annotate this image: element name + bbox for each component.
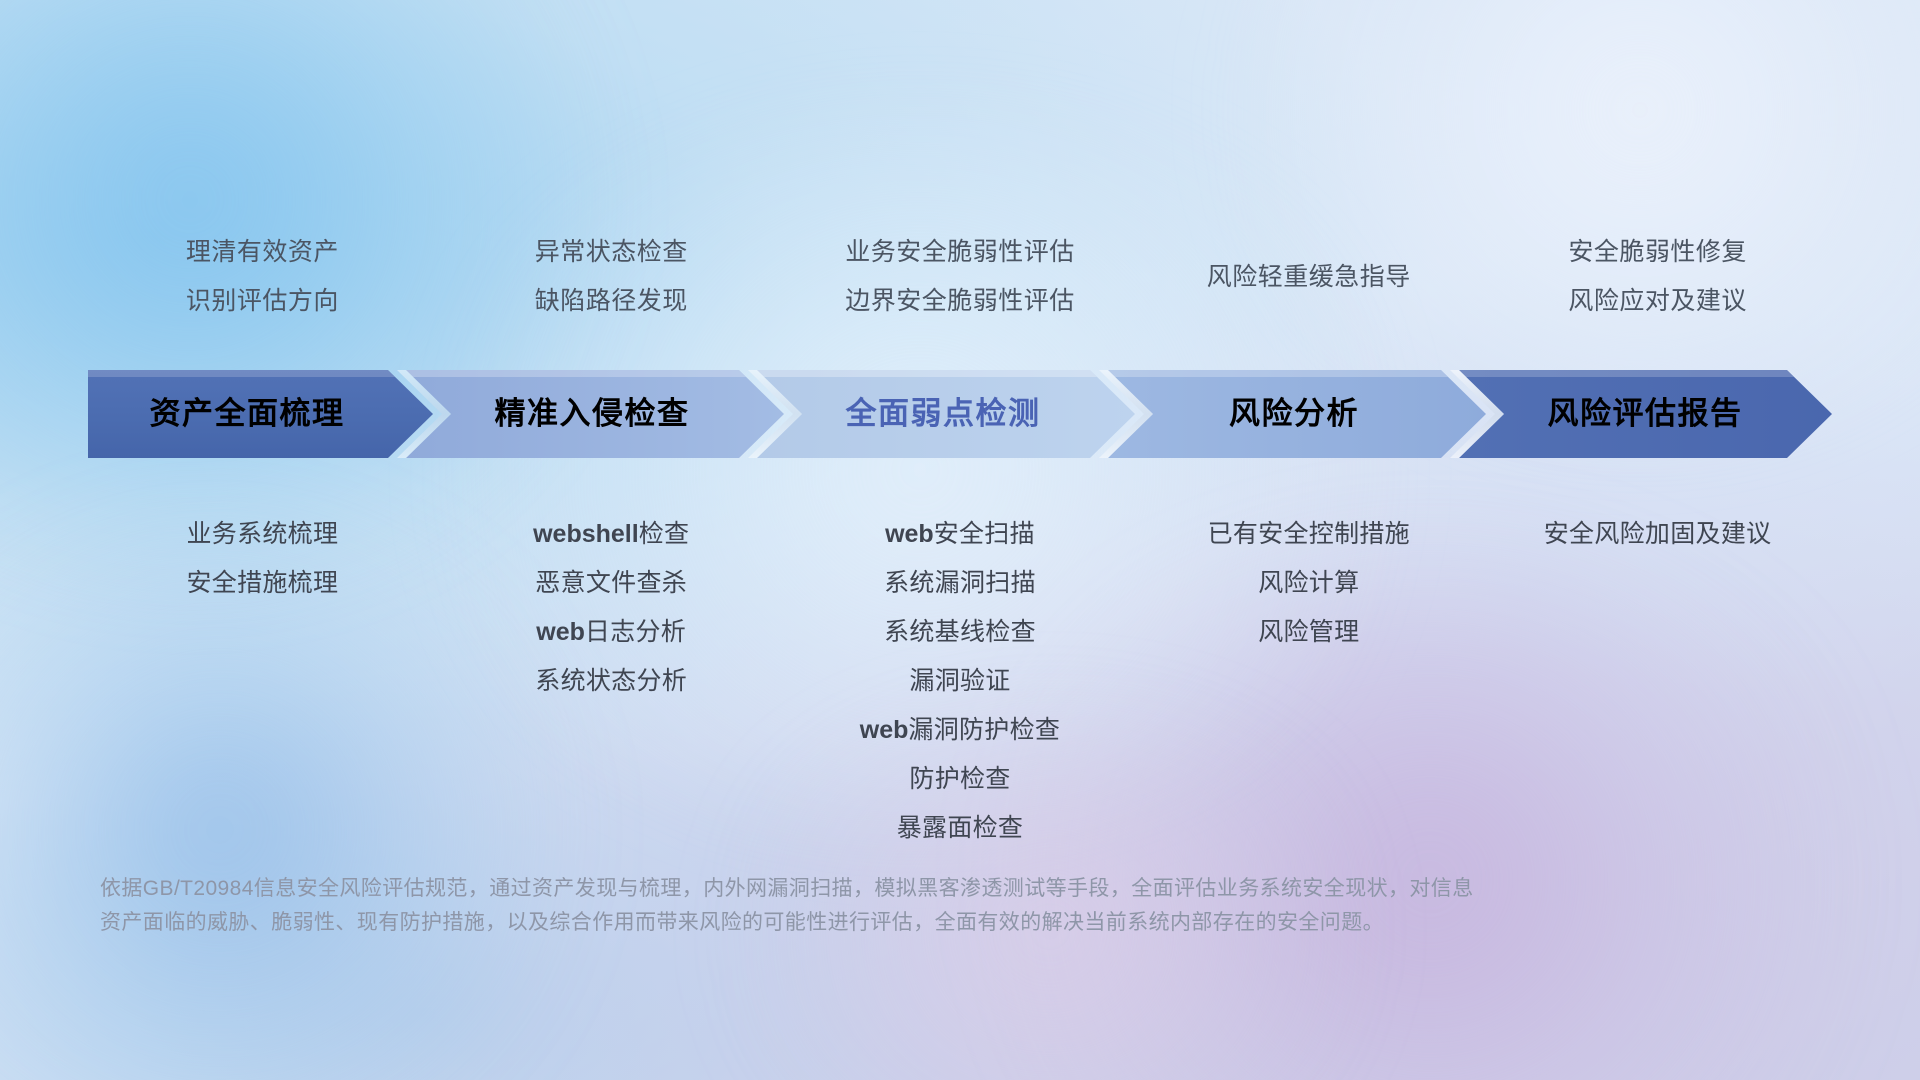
top-line: 边界安全脆弱性评估	[786, 277, 1135, 326]
detail-item: web日志分析	[437, 608, 786, 657]
detail-item: 恶意文件查杀	[437, 559, 786, 608]
top-line: 识别评估方向	[88, 277, 437, 326]
top-column-intrusion-check: 异常状态检查 缺陷路径发现	[437, 228, 786, 326]
detail-item: 安全措施梳理	[88, 559, 437, 608]
bottom-detail-row: 业务系统梳理 安全措施梳理 webshell检查 恶意文件查杀 web日志分析 …	[88, 510, 1832, 853]
top-line: 异常状态检查	[437, 228, 786, 277]
detail-item: 风险管理	[1134, 608, 1483, 657]
top-line: 业务安全脆弱性评估	[786, 228, 1135, 277]
detail-item: 系统状态分析	[437, 657, 786, 706]
top-line: 安全脆弱性修复	[1483, 228, 1832, 277]
bottom-column-asset-inventory: 业务系统梳理 安全措施梳理	[88, 510, 437, 853]
detail-item: 防护检查	[786, 755, 1135, 804]
detail-item: 业务系统梳理	[88, 510, 437, 559]
top-line: 风险应对及建议	[1483, 277, 1832, 326]
detail-item: 漏洞验证	[786, 657, 1135, 706]
process-flow-bar: 资产全面梳理 精准入侵检查 全面弱点检测 风险分析 风险评估报告	[88, 370, 1832, 458]
top-line: 缺陷路径发现	[437, 277, 786, 326]
top-line: 风险轻重缓急指导	[1134, 228, 1483, 326]
detail-item: 系统漏洞扫描	[786, 559, 1135, 608]
detail-item: web安全扫描	[786, 510, 1135, 559]
footer-line-1: 依据GB/T20984信息安全风险评估规范，通过资产发现与梳理，内外网漏洞扫描，…	[100, 872, 1700, 906]
bottom-column-weakness-detection: web安全扫描 系统漏洞扫描 系统基线检查 漏洞验证 web漏洞防护检查 防护检…	[786, 510, 1135, 853]
bottom-column-risk-analysis: 已有安全控制措施 风险计算 风险管理	[1134, 510, 1483, 853]
top-column-risk-report: 安全脆弱性修复 风险应对及建议	[1483, 228, 1832, 326]
bottom-column-risk-report: 安全风险加固及建议	[1483, 510, 1832, 853]
detail-item: 安全风险加固及建议	[1483, 510, 1832, 559]
footer-description: 依据GB/T20984信息安全风险评估规范，通过资产发现与梳理，内外网漏洞扫描，…	[100, 872, 1700, 940]
detail-item: 风险计算	[1134, 559, 1483, 608]
detail-item: 暴露面检查	[786, 804, 1135, 853]
top-description-row: 理清有效资产 识别评估方向 异常状态检查 缺陷路径发现 业务安全脆弱性评估 边界…	[88, 228, 1832, 326]
detail-item: web漏洞防护检查	[786, 706, 1135, 755]
footer-line-2: 资产面临的威胁、脆弱性、现有防护措施，以及综合作用而带来风险的可能性进行评估，全…	[100, 906, 1700, 940]
detail-item: 系统基线检查	[786, 608, 1135, 657]
slide-content: 理清有效资产 识别评估方向 异常状态检查 缺陷路径发现 业务安全脆弱性评估 边界…	[0, 0, 1920, 1080]
detail-item: webshell检查	[437, 510, 786, 559]
top-column-asset-inventory: 理清有效资产 识别评估方向	[88, 228, 437, 326]
top-line: 理清有效资产	[88, 228, 437, 277]
bottom-column-intrusion-check: webshell检查 恶意文件查杀 web日志分析 系统状态分析	[437, 510, 786, 853]
top-column-weakness-detection: 业务安全脆弱性评估 边界安全脆弱性评估	[786, 228, 1135, 326]
slide-canvas: 理清有效资产 识别评估方向 异常状态检查 缺陷路径发现 业务安全脆弱性评估 边界…	[0, 0, 1920, 1080]
detail-item: 已有安全控制措施	[1134, 510, 1483, 559]
top-column-risk-analysis: 风险轻重缓急指导	[1134, 228, 1483, 326]
